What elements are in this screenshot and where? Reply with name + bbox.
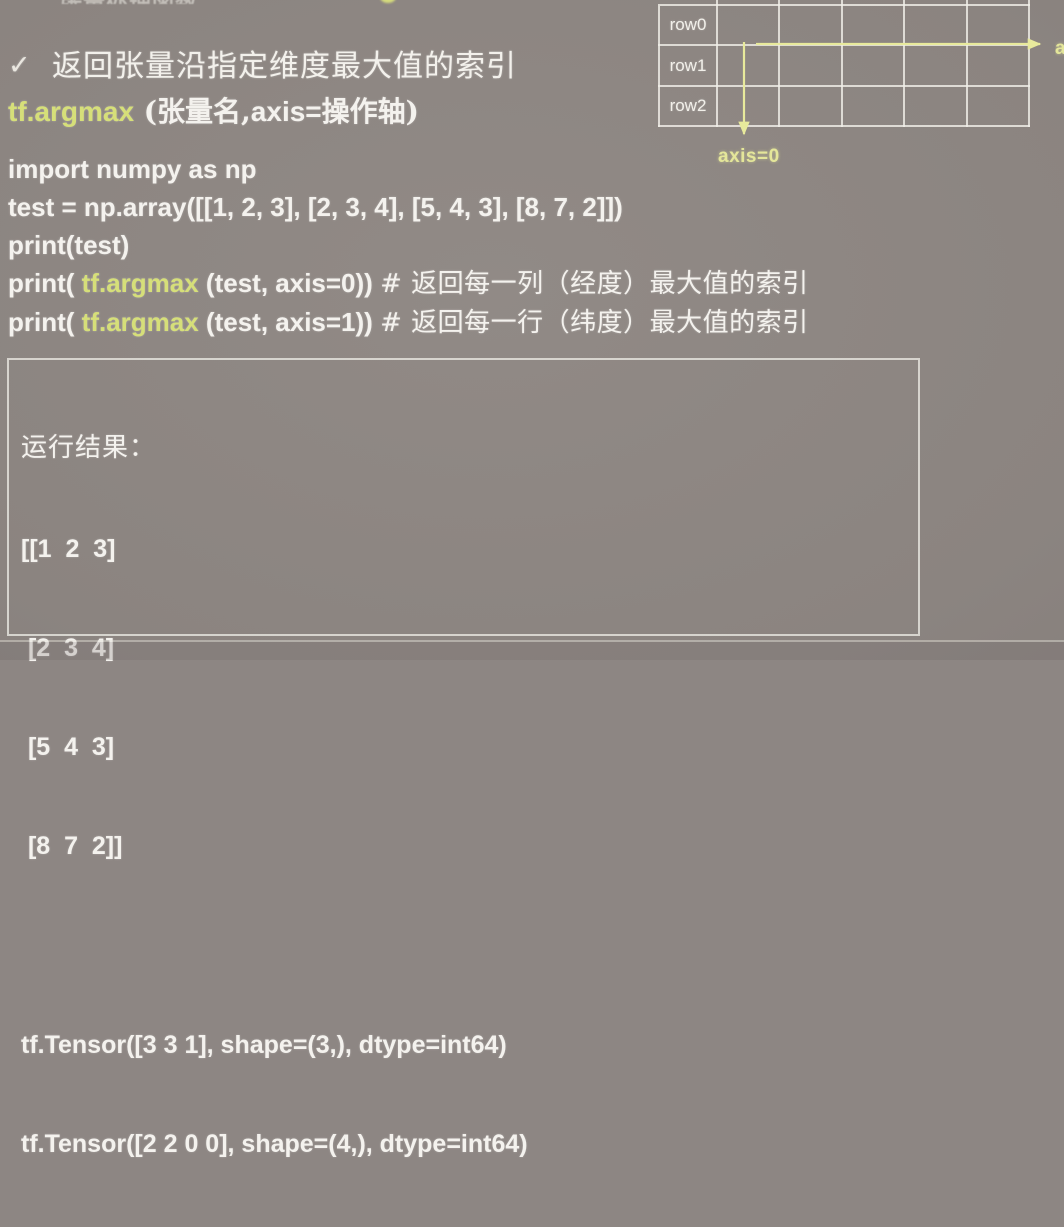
axis0-label: axis=0 — [718, 146, 780, 168]
result-matrix-line: [[1 2 3] — [21, 533, 528, 566]
table-cell — [779, 5, 841, 45]
result-matrix-line: [8 7 2]] — [21, 830, 528, 863]
code-prefix: print( — [8, 268, 82, 298]
axis-diagram: col0 col1 col2 col3 col4 row0 row1 — [658, 0, 1030, 127]
result-tensor-line: tf.Tensor([3 3 1], shape=(3,), dtype=int… — [21, 1029, 528, 1062]
table-cell — [967, 5, 1029, 45]
code-line: print( tf.argmax (test, axis=0)) # 返回每一列… — [8, 264, 809, 303]
signature-keyword: tf.argmax — [8, 96, 134, 127]
table-cell — [842, 45, 904, 85]
signature-axis-kw: axis= — [251, 96, 322, 127]
signature-rest-suffix: 操作轴) — [322, 95, 419, 128]
check-icon: ✓ — [8, 52, 38, 79]
table-cell — [967, 86, 1029, 126]
bullet-row: ✓ 返回张量沿指定维度最大值的索引 — [8, 41, 517, 85]
slide-canvas: 张量处理函数 ✓ 返回张量沿指定维度最大值的索引 tf.argmax (张量名,… — [0, 0, 1064, 660]
result-matrix-line: [5 4 3] — [21, 731, 528, 764]
table-cell — [967, 45, 1029, 85]
result-title: 运行结果： — [21, 432, 528, 465]
code-line: test = np.array([[1, 2, 3], [2, 3, 4], [… — [8, 188, 809, 226]
table-cell — [904, 45, 966, 85]
axis-table: col0 col1 col2 col3 col4 row0 row1 — [658, 0, 1030, 127]
function-signature: tf.argmax (张量名,axis=操作轴) — [8, 90, 419, 130]
code-comment: # 返回每一行（纬度）最大值的索引 — [380, 308, 809, 338]
code-line: print(test) — [8, 226, 809, 264]
bottom-band — [0, 642, 1064, 660]
table-cell — [779, 45, 841, 85]
result-content: 运行结果： [[1 2 3] [2 3 4] [5 4 3] [8 7 2]] … — [21, 366, 528, 1227]
result-tensor-line: tf.Tensor([2 2 0 0], shape=(4,), dtype=i… — [21, 1128, 528, 1161]
signature-rest-prefix: (张量名, — [134, 95, 251, 128]
table-row: row0 — [659, 5, 1029, 45]
table-row: row2 — [659, 86, 1029, 126]
result-spacer — [21, 929, 528, 963]
code-line: import numpy as np — [8, 150, 809, 188]
result-box: 运行结果： [[1 2 3] [2 3 4] [5 4 3] [8 7 2]] … — [7, 358, 920, 636]
table-cell — [717, 5, 779, 45]
code-keyword: tf.argmax — [82, 307, 199, 337]
table-cell — [904, 5, 966, 45]
code-block: import numpy as np test = np.array([[1, … — [8, 150, 809, 342]
table-cell — [842, 86, 904, 126]
row-header-row1: row1 — [659, 45, 717, 85]
code-keyword: tf.argmax — [82, 268, 199, 298]
cut-off-title-sliver: 张量处理函数 — [60, 0, 198, 4]
code-suffix: (test, axis=0)) — [199, 268, 380, 298]
table-row: row1 — [659, 45, 1029, 85]
table-cell — [842, 5, 904, 45]
table-cell — [717, 45, 779, 85]
code-comment: # 返回每一列（经度）最大值的索引 — [380, 269, 809, 299]
row-header-row0: row0 — [659, 5, 717, 45]
bullet-text: 返回张量沿指定维度最大值的索引 — [38, 41, 517, 85]
axis1-label: axis=1 — [1055, 38, 1064, 60]
code-line: print( tf.argmax (test, axis=1)) # 返回每一行… — [8, 303, 809, 342]
table-cell — [717, 86, 779, 126]
code-suffix: (test, axis=1)) — [199, 307, 380, 337]
code-prefix: print( — [8, 307, 82, 337]
table-cell — [779, 86, 841, 126]
row-header-row2: row2 — [659, 86, 717, 126]
table-cell — [904, 86, 966, 126]
title-decoration-dot — [380, 0, 396, 3]
